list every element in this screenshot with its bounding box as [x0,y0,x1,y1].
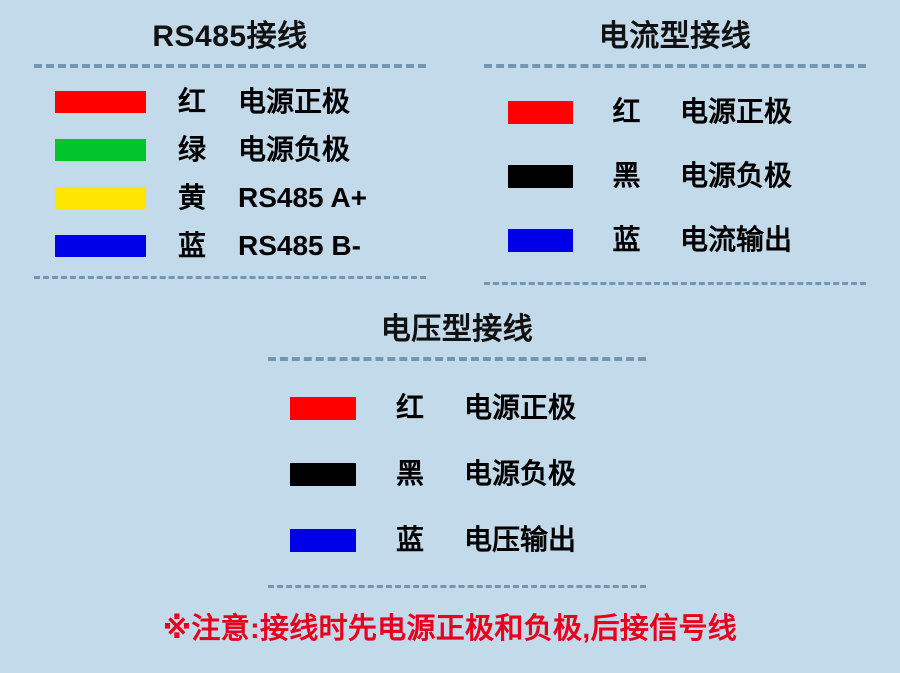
color-label: 蓝 [573,226,680,254]
wiring-row: 红 电源正极 [268,375,646,441]
wiring-row: 黑 电源负极 [268,441,646,507]
function-label: 电流输出 [680,226,792,254]
panel-current-rows: 红 电源正极 黑 电源负极 蓝 电流输出 [484,68,866,282]
function-label: 电源负极 [680,162,792,190]
wiring-row: 绿 电源负极 [34,126,426,174]
panel-voltage-divider-bottom [268,585,646,588]
panel-current-divider-bottom [484,282,866,285]
notice-text: ※注意:接线时先电源正极和负极,后接信号线 [0,605,900,647]
panel-rs485-rows: 红 电源正极 绿 电源负极 黄 RS485 A+ 蓝 RS485 B- [34,68,426,276]
wiring-row: 蓝 RS485 B- [34,222,426,270]
function-label: RS485 B- [238,232,361,260]
color-label: 绿 [146,136,238,164]
swatch-red [508,101,573,124]
panel-voltage-title: 电压型接线 [268,315,646,345]
wiring-row: 蓝 电压输出 [268,507,646,573]
swatch-black [508,165,573,188]
panel-rs485-divider-bottom [34,276,426,279]
swatch-green [55,139,146,161]
panel-rs485-title: RS485接线 [34,22,426,52]
wiring-row: 红 电源正极 [34,78,426,126]
wiring-row: 红 电源正极 [484,80,866,144]
function-label: 电源负极 [238,136,350,164]
wiring-row: 黄 RS485 A+ [34,174,426,222]
panel-voltage: 电压型接线 红 电源正极 黑 电源负极 蓝 电压输出 [268,315,646,588]
function-label: 电源负极 [464,460,576,488]
swatch-yellow [55,187,146,209]
wiring-diagram-page: RS485接线 红 电源正极 绿 电源负极 黄 RS485 A+ 蓝 RS485 [0,0,900,673]
color-label: 蓝 [146,232,238,260]
function-label: 电源正极 [464,394,576,422]
function-label: 电压输出 [464,526,576,554]
function-label: RS485 A+ [238,184,367,212]
panel-voltage-rows: 红 电源正极 黑 电源负极 蓝 电压输出 [268,361,646,585]
swatch-red [290,397,356,420]
swatch-blue [508,229,573,252]
color-label: 红 [573,98,680,126]
function-label: 电源正极 [680,98,792,126]
wiring-row: 蓝 电流输出 [484,208,866,272]
panel-rs485: RS485接线 红 电源正极 绿 电源负极 黄 RS485 A+ 蓝 RS485 [34,22,426,279]
panel-current: 电流型接线 红 电源正极 黑 电源负极 蓝 电流输出 [484,22,866,285]
color-label: 黑 [356,460,464,488]
swatch-black [290,463,356,486]
swatch-blue [55,235,146,257]
color-label: 红 [356,394,464,422]
wiring-row: 黑 电源负极 [484,144,866,208]
color-label: 黄 [146,184,238,212]
color-label: 蓝 [356,526,464,554]
swatch-blue [290,529,356,552]
color-label: 黑 [573,162,680,190]
swatch-red [55,91,146,113]
panel-current-title: 电流型接线 [484,22,866,52]
function-label: 电源正极 [238,88,350,116]
color-label: 红 [146,88,238,116]
